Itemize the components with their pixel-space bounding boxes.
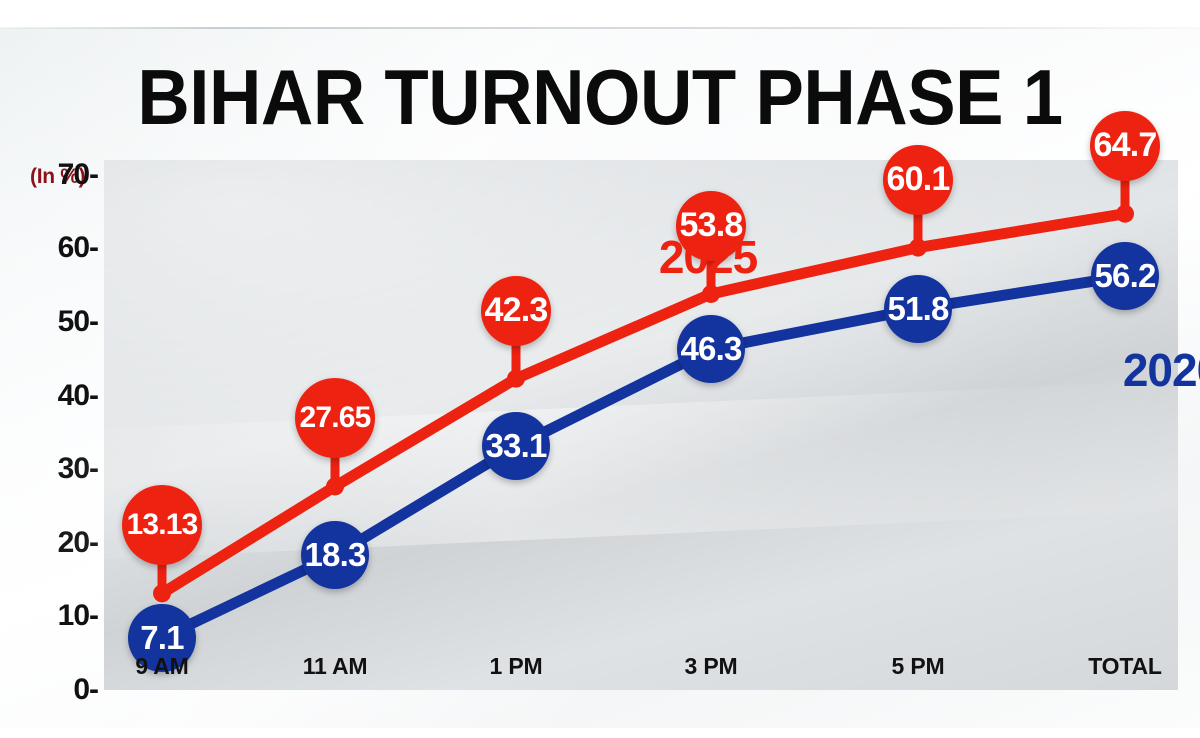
y-axis-tick-0: 0- bbox=[73, 673, 98, 707]
data-label-2020-11-am: 18.3 bbox=[301, 521, 369, 589]
data-point-2025-1 PM bbox=[507, 370, 525, 388]
data-point-2025-9 AM bbox=[153, 584, 171, 602]
y-axis-tick-30: 30- bbox=[58, 452, 98, 486]
series-2025-label-stems bbox=[162, 146, 1125, 594]
data-label-2020-total: 56.2 bbox=[1091, 242, 1159, 310]
series-label-2020: 2020 bbox=[1123, 343, 1200, 397]
data-point-2025-TOTAL bbox=[1116, 205, 1134, 223]
data-label-2025-total: 64.7 bbox=[1090, 111, 1160, 181]
data-label-2025-5-pm: 60.1 bbox=[883, 145, 953, 215]
data-label-2025-1-pm: 42.3 bbox=[481, 276, 551, 346]
y-axis-tick-20: 20- bbox=[58, 526, 98, 560]
y-axis-tick-50: 50- bbox=[58, 305, 98, 339]
x-axis-tick-3-pm: 3 PM bbox=[685, 653, 738, 680]
x-axis-tick-total: TOTAL bbox=[1088, 653, 1162, 680]
data-label-2020-5-pm: 51.8 bbox=[884, 275, 952, 343]
y-axis: 0-10-20-30-40-50-60-70- bbox=[18, 0, 98, 738]
y-axis-tick-60: 60- bbox=[58, 231, 98, 265]
x-axis-tick-9-am: 9 AM bbox=[135, 653, 188, 680]
data-label-2025-11-am: 27.65 bbox=[295, 378, 375, 458]
data-point-2025-3 PM bbox=[702, 285, 720, 303]
x-axis-tick-11-am: 11 AM bbox=[303, 653, 368, 680]
top-divider bbox=[0, 27, 1200, 29]
data-label-2020-3-pm: 46.3 bbox=[677, 315, 745, 383]
data-point-2025-11 AM bbox=[326, 477, 344, 495]
series-2020-line bbox=[162, 276, 1125, 637]
plot-area: 13.1327.6542.353.860.164.77.118.333.146.… bbox=[104, 160, 1178, 690]
data-label-2020-1-pm: 33.1 bbox=[482, 412, 550, 480]
series-label-2025: 2025 bbox=[659, 230, 757, 284]
chart-screenshot: BIHAR TURNOUT PHASE 1 (In %) 0-10-20-30-… bbox=[0, 0, 1200, 738]
y-axis-tick-70: 70- bbox=[58, 158, 98, 192]
series-lines bbox=[104, 160, 1178, 690]
y-axis-tick-10: 10- bbox=[58, 599, 98, 633]
y-axis-tick-40: 40- bbox=[58, 379, 98, 413]
x-axis-tick-5-pm: 5 PM bbox=[892, 653, 945, 680]
data-point-2025-5 PM bbox=[909, 239, 927, 257]
data-label-2025-9-am: 13.13 bbox=[122, 485, 202, 565]
x-axis-tick-1-pm: 1 PM bbox=[490, 653, 543, 680]
chart-title: BIHAR TURNOUT PHASE 1 bbox=[42, 57, 1158, 137]
